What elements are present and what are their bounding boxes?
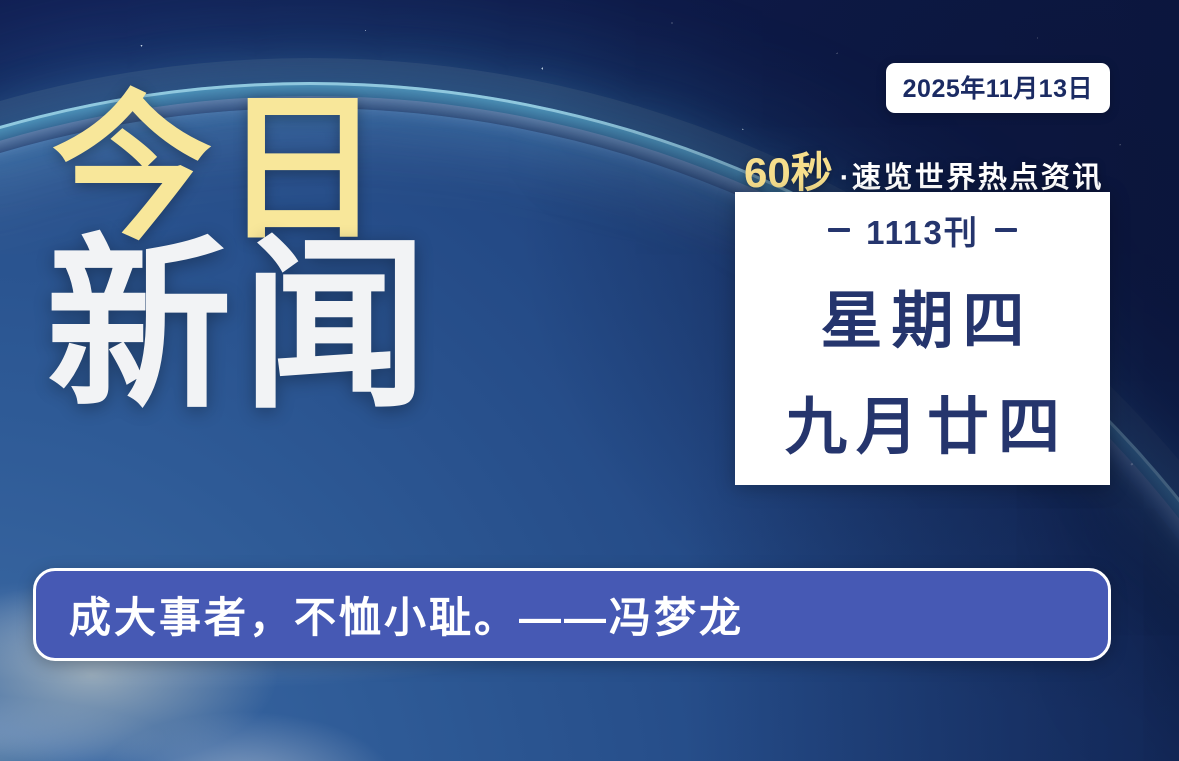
quote-bar: 成大事者，不恤小耻。——冯梦龙 bbox=[33, 568, 1111, 661]
headline-line-news: 新闻 bbox=[46, 238, 472, 417]
weekday-label: 星期四 bbox=[811, 270, 1033, 360]
dash-right-icon bbox=[995, 228, 1017, 232]
issue-row: 1113刊 bbox=[828, 206, 1017, 254]
news-poster: 2025年11月13日 今日 新闻 60秒 ·速览世界热点资讯 1113刊 星期… bbox=[0, 0, 1179, 761]
issue-number: 1113刊 bbox=[866, 206, 979, 254]
tagline-rest: ·速览世界热点资讯 bbox=[840, 154, 1104, 196]
info-card: 1113刊 星期四 九月廿四 bbox=[735, 192, 1110, 485]
tagline-highlight: 60秒 bbox=[744, 139, 833, 200]
dash-left-icon bbox=[828, 228, 850, 232]
date-badge: 2025年11月13日 bbox=[886, 63, 1110, 113]
tagline: 60秒 ·速览世界热点资讯 bbox=[744, 139, 1104, 200]
quote-text: 成大事者，不恤小耻。——冯梦龙 bbox=[36, 584, 744, 645]
lunar-date-label: 九月廿四 bbox=[776, 376, 1069, 466]
page-title: 今日 新闻 bbox=[52, 92, 472, 416]
